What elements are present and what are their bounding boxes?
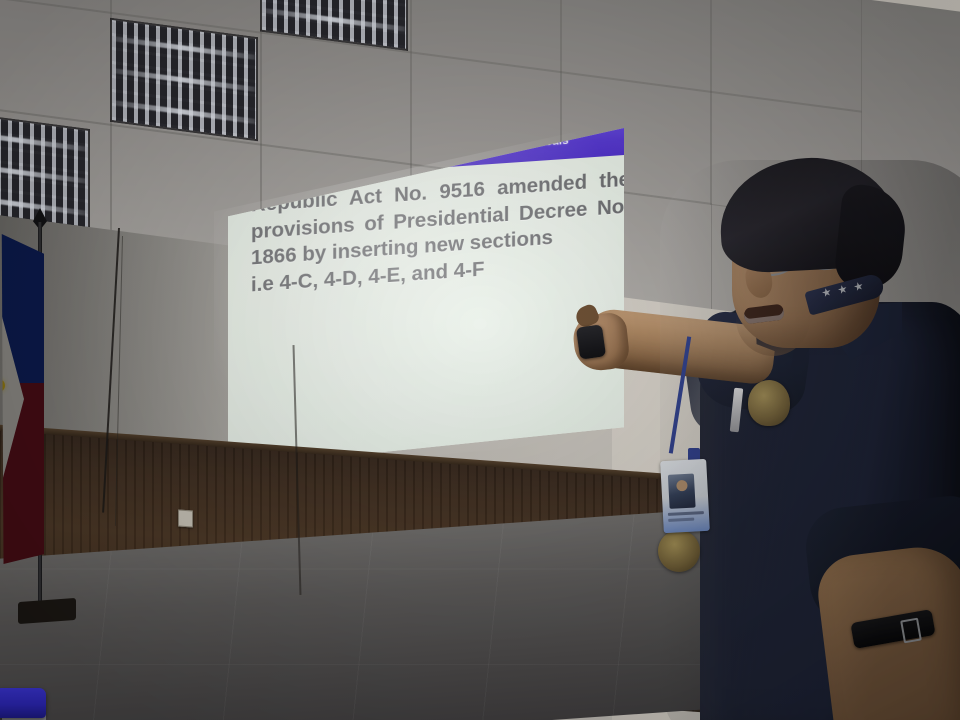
id-card-line: [668, 518, 694, 522]
chest-badge-icon: [748, 380, 790, 426]
philippine-flag: [0, 234, 44, 564]
presenter-person: [570, 130, 960, 720]
ceiling-light-fixture: [110, 18, 258, 141]
slide-content: Historical Background re IRR on Controll…: [228, 128, 624, 468]
screenshot-root: Historical Background re IRR on Controll…: [0, 0, 960, 720]
presenter-remote[interactable]: [576, 324, 606, 359]
id-card-photo: [668, 474, 696, 509]
flag-stand-base: [18, 598, 76, 624]
bullet-dot-icon: •: [238, 192, 251, 219]
belt-badge-icon: [658, 530, 700, 572]
projection-screen[interactable]: Historical Background re IRR on Controll…: [228, 128, 624, 468]
wristwatch-buckle: [900, 618, 922, 644]
bottle-cap[interactable]: [0, 688, 46, 718]
ceiling-light-fixture: [0, 109, 90, 233]
id-card: [660, 459, 710, 533]
id-card-line: [668, 511, 704, 516]
wall-outlet-plate: [178, 509, 193, 527]
